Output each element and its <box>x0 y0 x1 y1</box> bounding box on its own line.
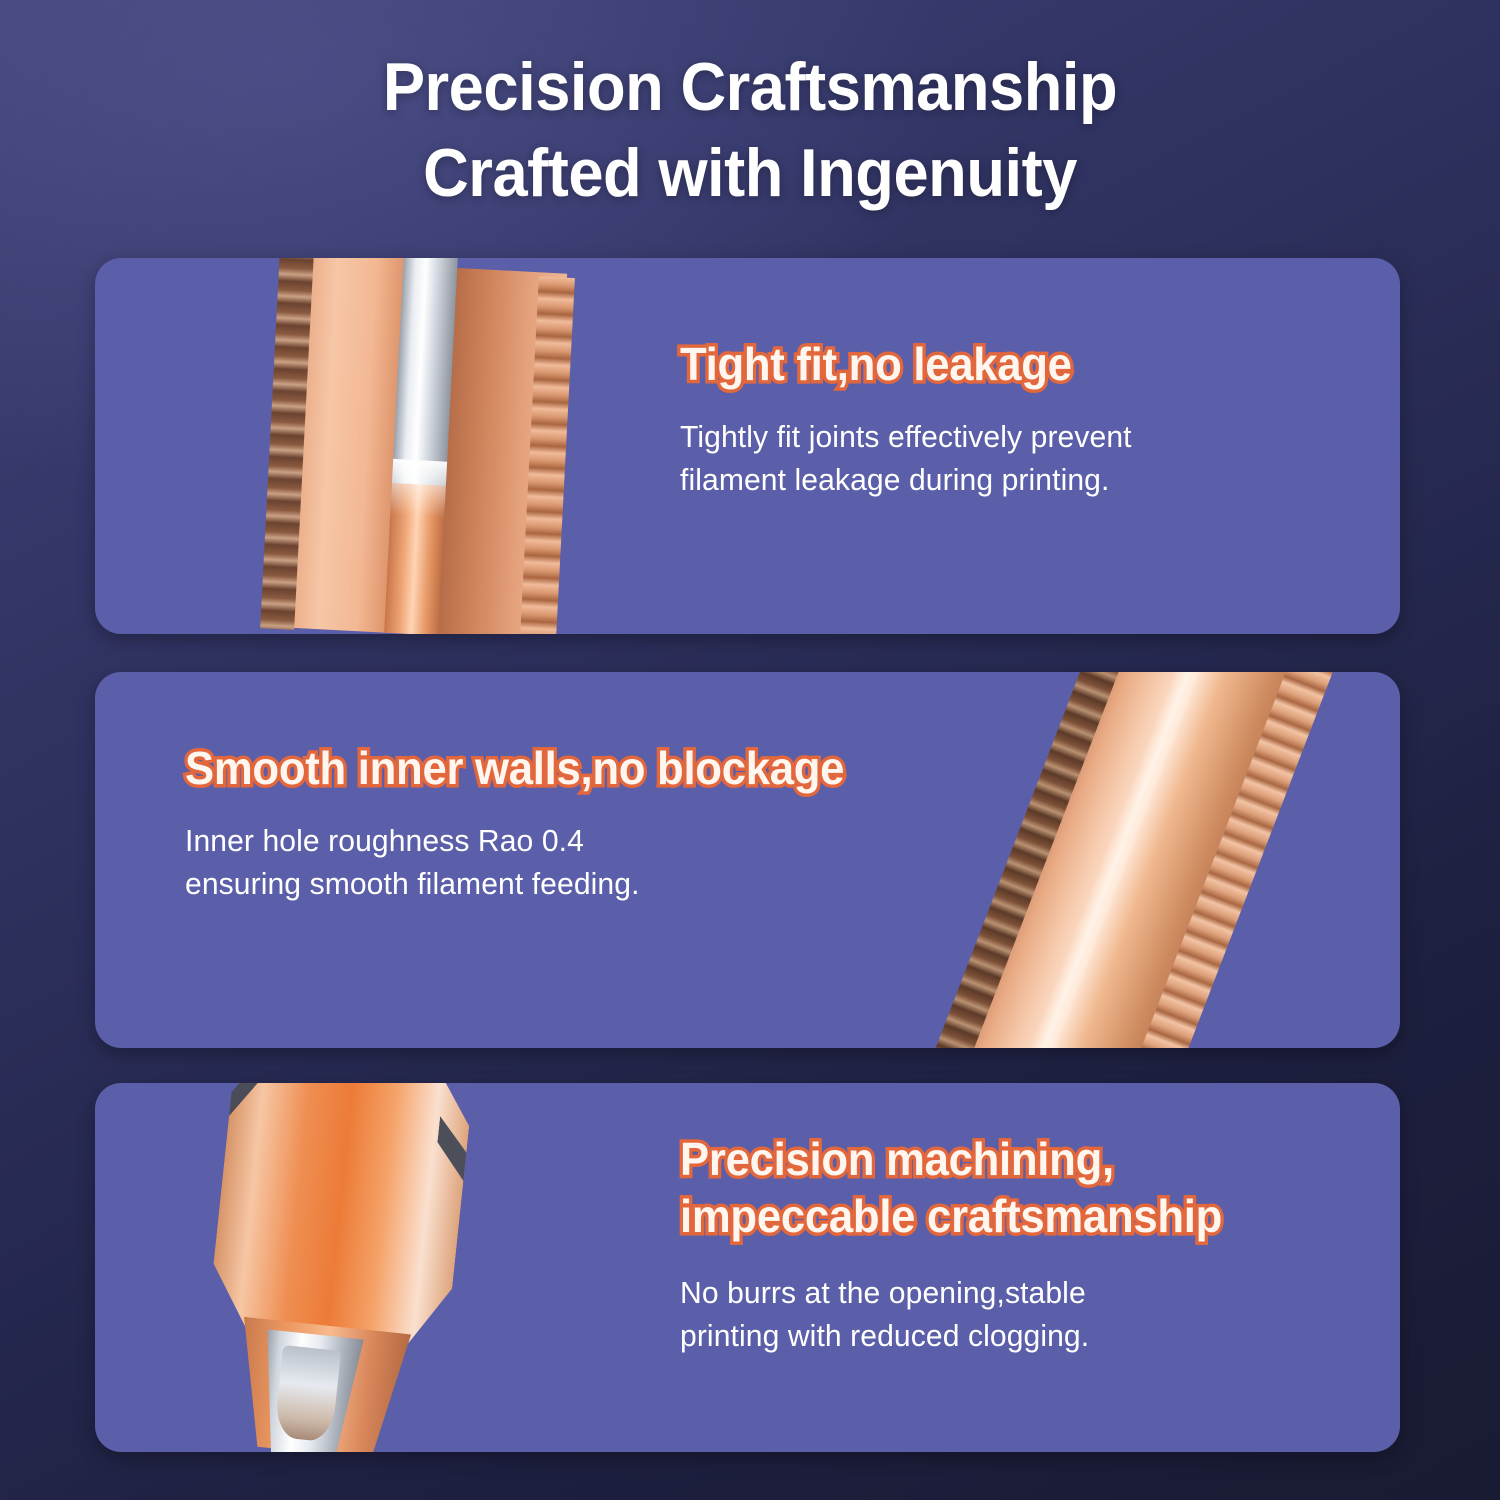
title-line-2: Crafted with Ingenuity <box>53 130 1448 216</box>
threaded-copper-barrel-image <box>175 258 695 634</box>
card-text-block: Precision machining, impeccable craftsma… <box>680 1131 1380 1357</box>
page-title: Precision Craftsmanship Crafted with Ing… <box>0 44 1500 216</box>
copper-nozzle-image <box>155 1083 575 1452</box>
feature-card-smooth-inner-walls: Smooth inner walls,no blockage Inner hol… <box>95 672 1400 1048</box>
card-heading: Tight fit,no leakage <box>680 336 1345 393</box>
feature-card-precision-machining: Precision machining, impeccable craftsma… <box>95 1083 1400 1452</box>
card-text-block: Tight fit,no leakage Tightly fit joints … <box>680 336 1380 501</box>
feature-card-tight-fit: Tight fit,no leakage Tightly fit joints … <box>95 258 1400 634</box>
card-text-block: Smooth inner walls,no blockage Inner hol… <box>185 740 1005 905</box>
card-heading: Smooth inner walls,no blockage <box>185 740 964 797</box>
card-body: No burrs at the opening,stable printing … <box>680 1271 1359 1357</box>
card-body: Inner hole roughness Rao 0.4 ensuring sm… <box>185 819 980 905</box>
title-line-1: Precision Craftsmanship <box>53 44 1448 130</box>
card-body: Tightly fit joints effectively prevent f… <box>680 415 1359 501</box>
card-heading: Precision machining, impeccable craftsma… <box>680 1131 1345 1245</box>
